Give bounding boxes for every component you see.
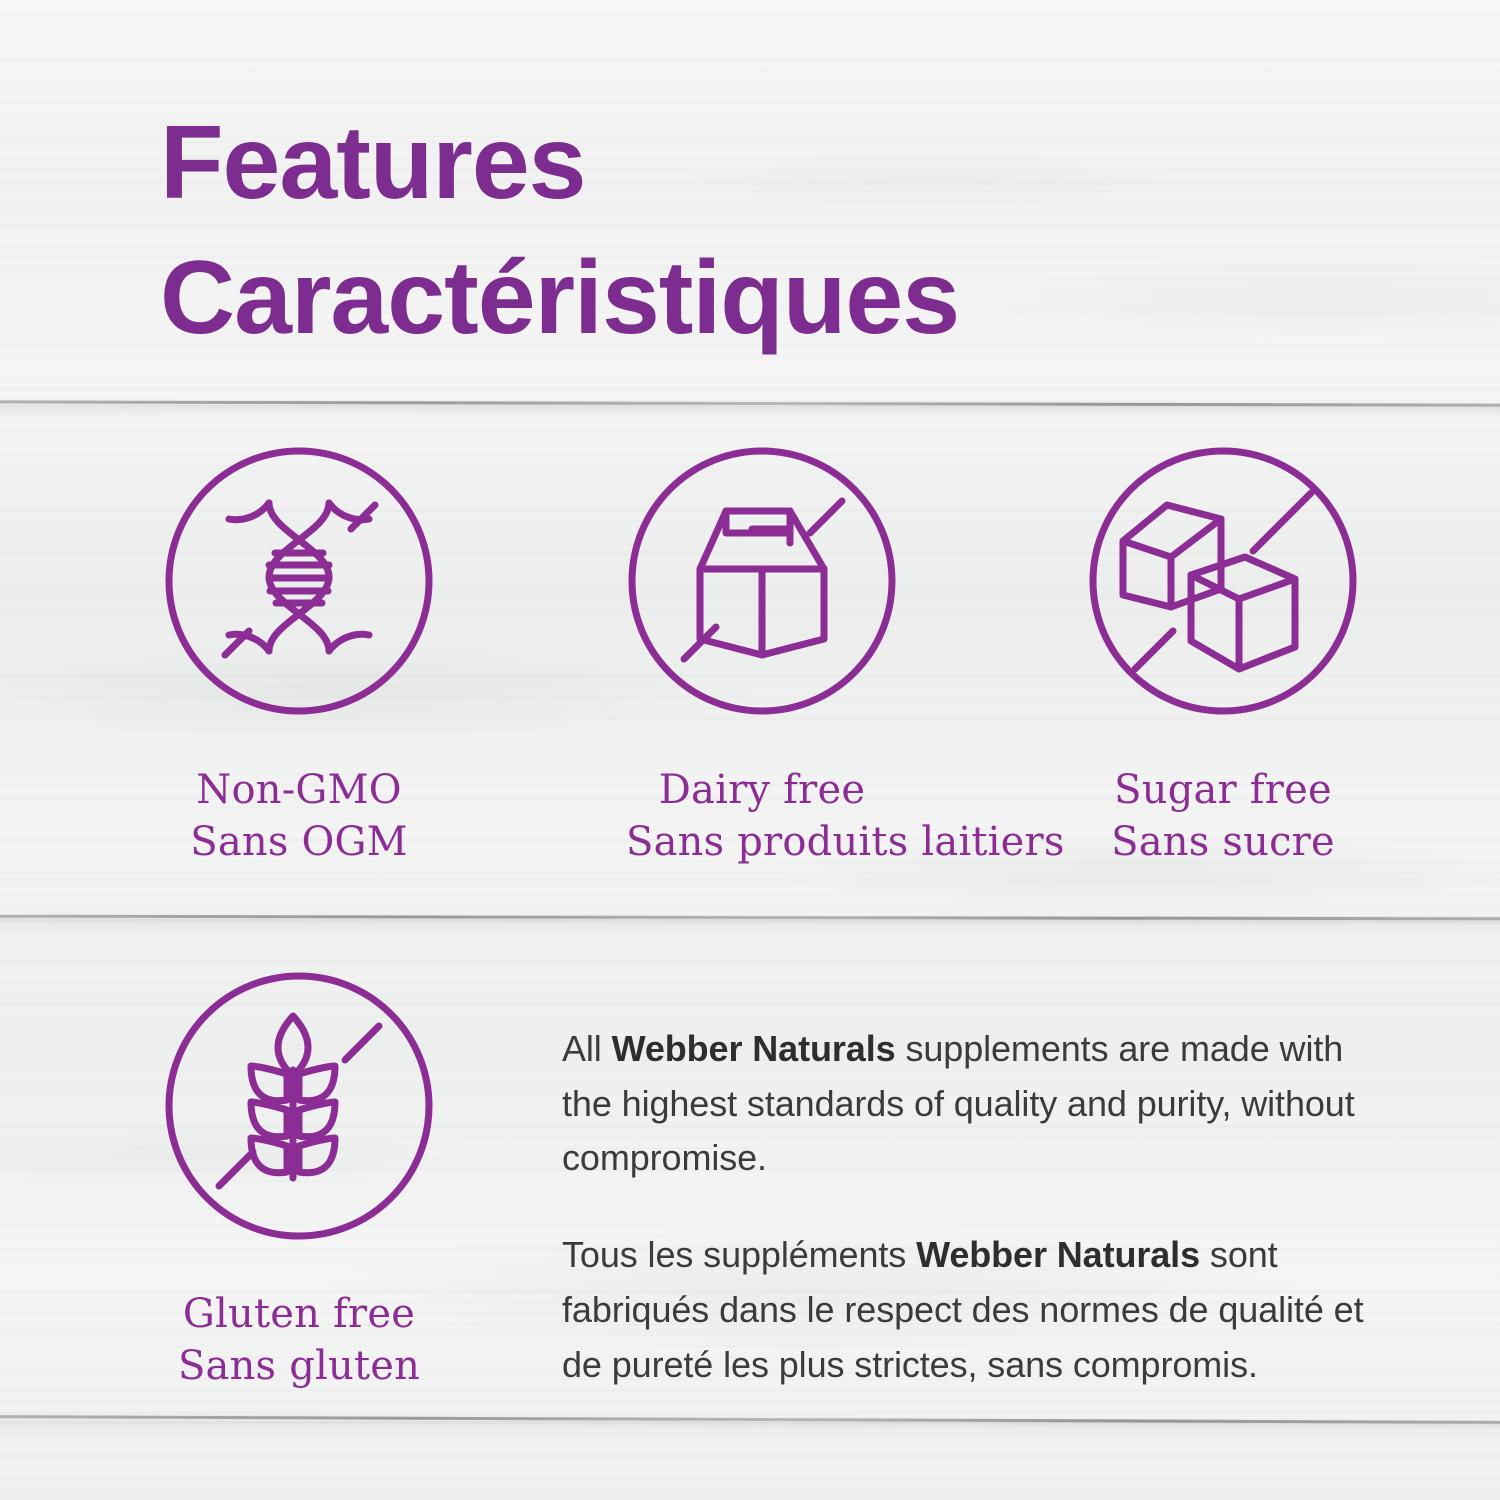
slash-stub-top-right bbox=[345, 1026, 379, 1060]
body-paragraph-en: All Webber Naturals supplements are made… bbox=[562, 1022, 1372, 1186]
wheat-stalk bbox=[251, 1016, 335, 1178]
feature-label-en: Sugar free bbox=[1087, 764, 1359, 816]
page-title-line-fr: Caractéristiques bbox=[160, 231, 1340, 366]
feature-icon-non-gmo bbox=[163, 445, 435, 717]
copy-fr-before-brand: Tous les suppléments bbox=[562, 1234, 916, 1275]
no-dairy-milk-carton-icon bbox=[626, 445, 898, 717]
feature-label-fr: Sans sucre bbox=[1087, 816, 1359, 868]
sugar-cube-front bbox=[1191, 557, 1295, 669]
slash-stub-bottom-left bbox=[1135, 631, 1173, 669]
plank-shadow-1 bbox=[0, 405, 1500, 421]
copy-en-before-brand: All bbox=[562, 1028, 612, 1069]
feature-icon-sugar-free bbox=[1087, 445, 1359, 717]
brand-name-fr: Webber Naturals bbox=[916, 1234, 1200, 1275]
features-infographic: Features Caractéristiques bbox=[0, 0, 1500, 1500]
feature-label-sugar-free: Sugar free Sans sucre bbox=[1087, 764, 1359, 868]
feature-label-fr: Sans gluten bbox=[163, 1340, 435, 1392]
body-copy: All Webber Naturals supplements are made… bbox=[562, 1022, 1372, 1392]
slash-stub-top-right bbox=[1253, 493, 1311, 551]
feature-label-dairy-free: Dairy free Sans produits laitiers bbox=[626, 764, 898, 868]
body-paragraph-fr: Tous les suppléments Webber Naturals son… bbox=[562, 1228, 1372, 1392]
feature-label-en: Gluten free bbox=[163, 1288, 435, 1340]
no-gluten-wheat-icon bbox=[163, 970, 435, 1242]
slash-stub-top-right bbox=[810, 501, 842, 533]
no-sugar-cubes-icon bbox=[1087, 445, 1359, 717]
milk-carton bbox=[700, 511, 824, 655]
feature-label-non-gmo: Non-GMO Sans OGM bbox=[163, 764, 435, 868]
page-title-line-en: Features bbox=[160, 96, 1340, 231]
slash-stub-bottom-left bbox=[219, 1152, 253, 1186]
plank-shadow-3 bbox=[0, 1421, 1500, 1437]
feature-label-fr: Sans produits laitiers bbox=[626, 816, 898, 868]
page-title: Features Caractéristiques bbox=[160, 96, 1340, 366]
feature-label-en: Dairy free bbox=[626, 764, 898, 816]
feature-icon-dairy-free bbox=[626, 445, 898, 717]
feature-label-fr: Sans OGM bbox=[163, 816, 435, 868]
plank-shadow-2 bbox=[0, 919, 1500, 935]
sugar-cube-back bbox=[1123, 505, 1221, 607]
no-gmo-dna-icon bbox=[163, 445, 435, 717]
feature-label-gluten-free: Gluten free Sans gluten bbox=[163, 1288, 435, 1392]
feature-label-en: Non-GMO bbox=[163, 764, 435, 816]
prohibition-circle bbox=[169, 976, 429, 1236]
feature-icon-gluten-free bbox=[163, 970, 435, 1242]
brand-name-en: Webber Naturals bbox=[612, 1028, 896, 1069]
